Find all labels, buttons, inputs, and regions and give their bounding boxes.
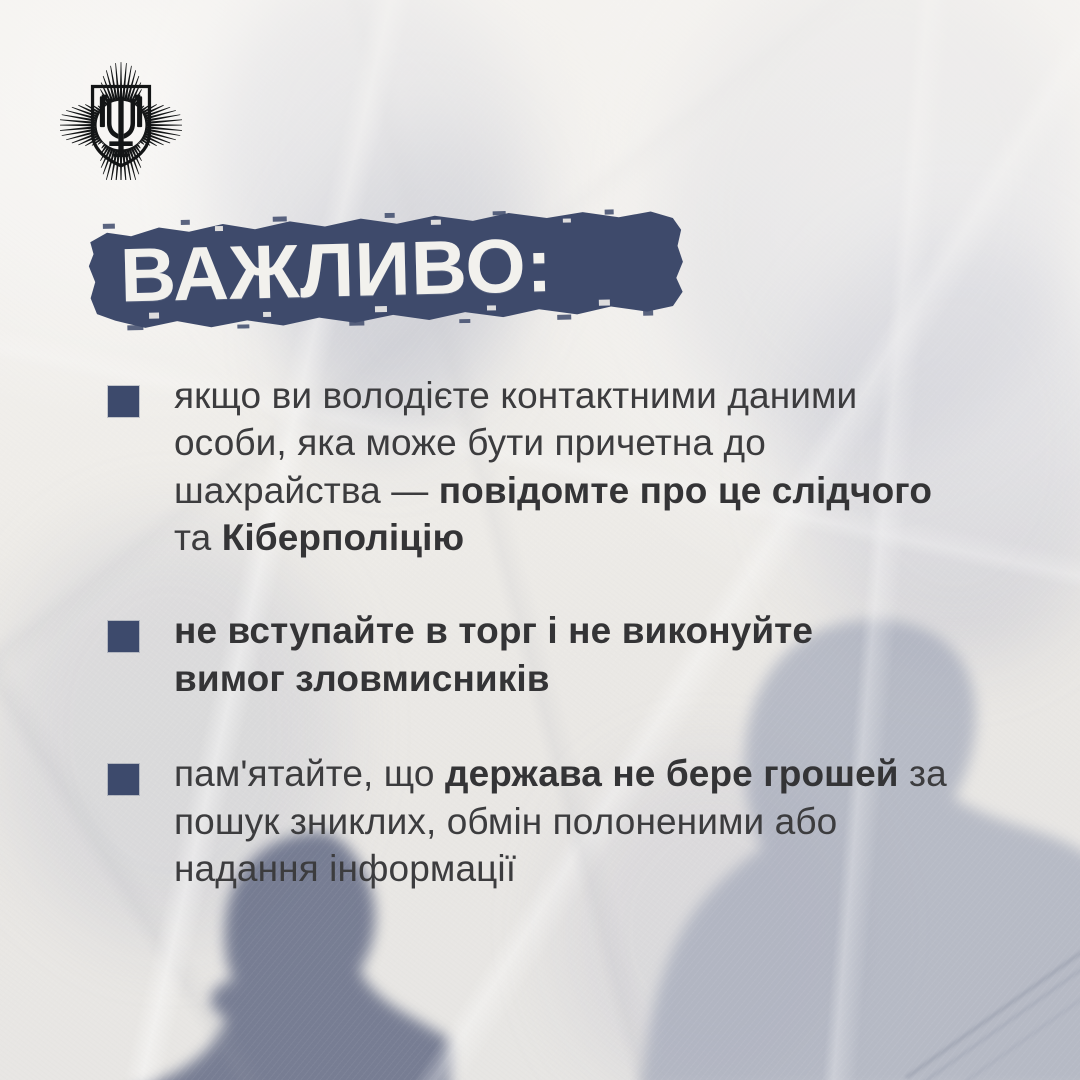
- list-item: не вступайте в торг і не виконуйте вимог…: [108, 607, 1008, 702]
- list-item: пам'ятайте, що держава не бере грошей за…: [108, 750, 1008, 892]
- bullet-text: якщо ви володієте контактними даними осо…: [174, 372, 964, 561]
- headline-banner: ВАЖЛИВО:: [85, 206, 688, 333]
- square-bullet-icon: [108, 764, 139, 795]
- bullet-list: якщо ви володієте контактними даними осо…: [108, 372, 1008, 892]
- bullet-text: пам'ятайте, що держава не бере грошей за…: [174, 750, 964, 892]
- bullet-text: не вступайте в торг і не виконуйте вимог…: [174, 607, 934, 702]
- poster-canvas: ВАЖЛИВО: якщо ви володієте контактними д…: [0, 0, 1080, 1080]
- square-bullet-icon: [108, 621, 139, 652]
- list-item: якщо ви володієте контактними даними осо…: [108, 372, 1008, 561]
- square-bullet-icon: [108, 386, 139, 417]
- page-title: ВАЖЛИВО:: [119, 216, 688, 322]
- ukraine-mia-emblem-icon: [60, 56, 182, 180]
